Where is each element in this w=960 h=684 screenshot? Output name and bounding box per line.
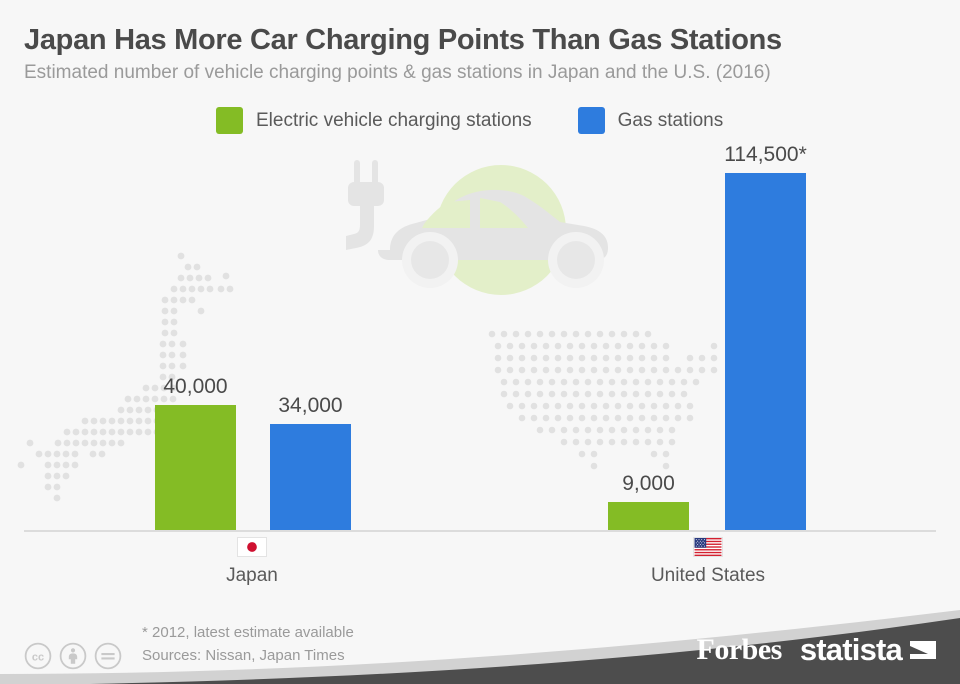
bar-value-label: 40,000 <box>163 375 227 399</box>
legend-item-ev-charging[interactable]: Electric vehicle charging stations <box>216 107 532 134</box>
sources-text: Sources: Nissan, Japan Times <box>142 644 354 667</box>
infographic-canvas: Japan Has More Car Charging Points Than … <box>0 0 960 684</box>
bar-fill <box>725 173 806 530</box>
cc-by-person-icon <box>59 642 87 670</box>
bar-japan-ev-charging[interactable]: 40,000 <box>155 405 236 530</box>
bar-us-gas-stations[interactable]: 114,500* <box>725 173 806 530</box>
bar-japan-gas-stations[interactable]: 34,000 <box>270 424 351 530</box>
category-united-states: United States <box>608 537 808 587</box>
chart-baseline <box>24 530 936 532</box>
bar-chart-plot <box>0 150 960 532</box>
legend-item-label: Gas stations <box>618 110 724 132</box>
bar-fill <box>608 502 689 530</box>
page-subtitle: Estimated number of vehicle charging poi… <box>24 62 944 84</box>
category-label: United States <box>608 565 808 587</box>
forbes-logo[interactable]: Forbes <box>697 633 782 667</box>
green-square-swatch <box>216 107 243 134</box>
footnote-text: * 2012, latest estimate available <box>142 621 354 644</box>
bar-value-label: 9,000 <box>622 472 675 496</box>
cc-nd-equals-icon <box>94 642 122 670</box>
legend-item-label: Electric vehicle charging stations <box>256 110 532 132</box>
chart-legend: Electric vehicle charging stations Gas s… <box>216 107 723 134</box>
legend-item-gas-stations[interactable]: Gas stations <box>578 107 724 134</box>
footer-notes: * 2012, latest estimate available Source… <box>142 621 354 668</box>
bar-value-label: 114,500* <box>724 143 807 167</box>
bar-value-label: 34,000 <box>278 394 342 418</box>
bar-us-ev-charging[interactable]: 9,000 <box>608 502 689 530</box>
page-title: Japan Has More Car Charging Points Than … <box>24 24 924 57</box>
cc-icon: cc <box>24 642 52 670</box>
category-label: Japan <box>152 565 352 587</box>
japan-flag-icon <box>237 537 267 557</box>
bar-fill <box>270 424 351 530</box>
statista-wordmark: statista <box>800 632 902 668</box>
creative-commons-license[interactable]: cc <box>24 642 122 670</box>
blue-square-swatch <box>578 107 605 134</box>
united-states-flag-icon <box>693 537 723 557</box>
brand-lockup: Forbes statista <box>697 632 938 668</box>
category-japan: Japan <box>152 537 352 587</box>
statista-flag-icon <box>908 637 938 663</box>
svg-text:cc: cc <box>32 651 44 663</box>
statista-logo[interactable]: statista <box>800 632 938 668</box>
bar-fill <box>155 405 236 530</box>
